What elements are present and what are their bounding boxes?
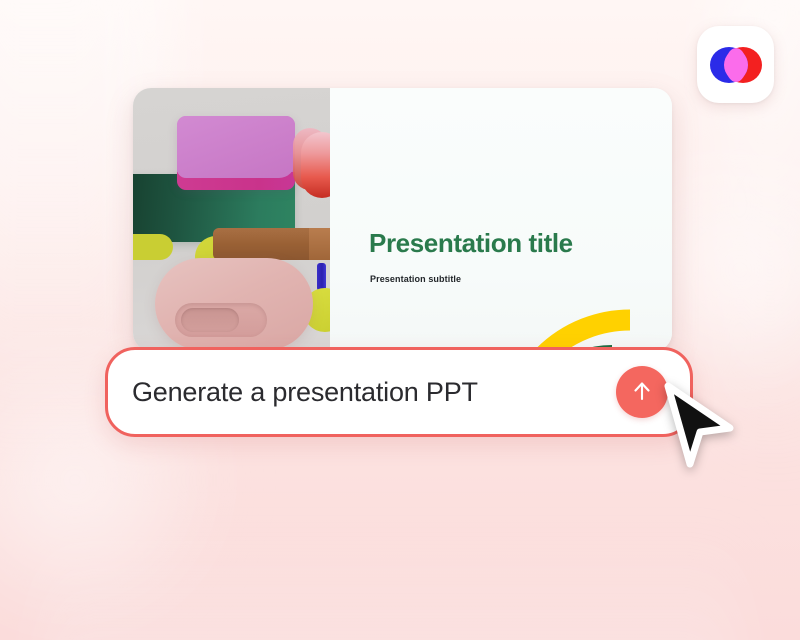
slide-art-panel — [133, 88, 330, 351]
shape-purple-rect-top — [177, 116, 295, 178]
prompt-input-bar[interactable]: Generate a presentation PPT — [105, 347, 693, 437]
app-logo-badge[interactable] — [697, 26, 774, 103]
decorative-arcs-icon — [498, 267, 672, 351]
shape-red-pink-capsule — [301, 132, 330, 198]
arrow-up-icon — [629, 378, 655, 407]
slide-preview-card[interactable]: Presentation title Presentation subtitle — [133, 88, 672, 351]
shape-yellow-blob-left — [133, 234, 173, 260]
slide-subtitle: Presentation subtitle — [370, 274, 461, 284]
shape-brown-cylinder-cap — [309, 228, 330, 260]
overlapping-circles-logo-icon — [710, 44, 762, 86]
shape-pink-pill-inner — [181, 308, 239, 332]
slide-title: Presentation title — [369, 228, 573, 259]
shape-blue-rod — [317, 263, 326, 291]
prompt-input[interactable]: Generate a presentation PPT — [132, 377, 616, 408]
slide-content-panel: Presentation title Presentation subtitle — [330, 88, 672, 351]
send-button[interactable] — [616, 366, 668, 418]
